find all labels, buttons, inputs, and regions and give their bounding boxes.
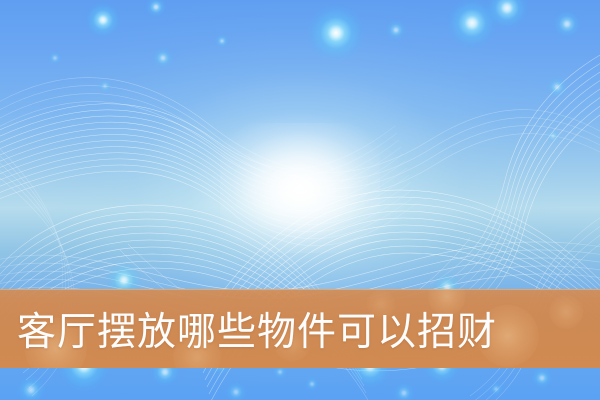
banner-top-highlight	[0, 289, 600, 290]
caption-text: 客厅摆放哪些物件可以招财	[17, 311, 577, 355]
decorative-image: 客厅摆放哪些物件可以招财	[0, 0, 600, 400]
